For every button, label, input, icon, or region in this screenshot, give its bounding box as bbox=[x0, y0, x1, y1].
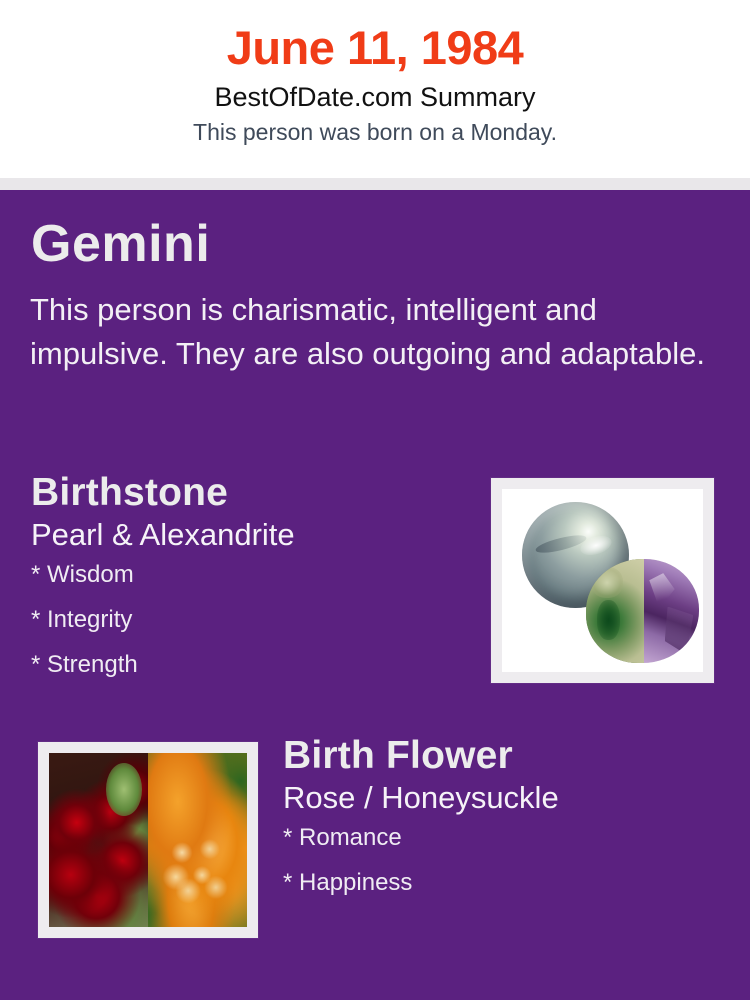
zodiac-description: This person is charismatic, intelligent … bbox=[30, 288, 720, 377]
birth-flower-heading: Birth Flower bbox=[283, 736, 723, 777]
birth-flower-value: Rose / Honeysuckle bbox=[283, 781, 723, 815]
birth-flower-image-frame bbox=[38, 742, 258, 938]
list-item: * Wisdom bbox=[31, 563, 471, 587]
page-title: June 11, 1984 bbox=[0, 22, 750, 75]
birthstone-section: Birthstone Pearl & Alexandrite * Wisdom … bbox=[31, 473, 471, 698]
list-item: * Integrity bbox=[31, 608, 471, 632]
list-item: * Strength bbox=[31, 653, 471, 677]
header-divider bbox=[0, 178, 750, 190]
birth-flower-trait-list: * Romance * Happiness bbox=[283, 826, 723, 895]
pearl-highlight-band bbox=[534, 532, 587, 556]
list-item: * Romance bbox=[283, 826, 723, 850]
alexandrite-faceted-half bbox=[644, 559, 699, 663]
birth-flower-image bbox=[49, 753, 247, 927]
birthstone-image bbox=[502, 489, 703, 672]
birth-flower-section: Birth Flower Rose / Honeysuckle * Romanc… bbox=[283, 736, 723, 916]
birthstone-image-frame bbox=[491, 478, 714, 683]
birthday-summary-card: June 11, 1984 BestOfDate.com Summary Thi… bbox=[0, 0, 750, 1000]
birthstone-heading: Birthstone bbox=[31, 473, 471, 514]
honeysuckle-photo bbox=[148, 753, 247, 927]
site-summary-subtitle: BestOfDate.com Summary bbox=[0, 82, 750, 113]
list-item: * Happiness bbox=[283, 871, 723, 895]
birthstone-trait-list: * Wisdom * Integrity * Strength bbox=[31, 563, 471, 677]
header: June 11, 1984 BestOfDate.com Summary Thi… bbox=[0, 0, 750, 178]
flower-split-layout bbox=[49, 753, 247, 927]
red-roses-photo bbox=[49, 753, 148, 927]
born-weekday-text: This person was born on a Monday. bbox=[0, 119, 750, 145]
alexandrite-rough-half bbox=[586, 559, 643, 663]
zodiac-sign-name: Gemini bbox=[31, 218, 210, 270]
alexandrite-gem-icon bbox=[586, 559, 699, 663]
birthstone-value: Pearl & Alexandrite bbox=[31, 518, 471, 552]
